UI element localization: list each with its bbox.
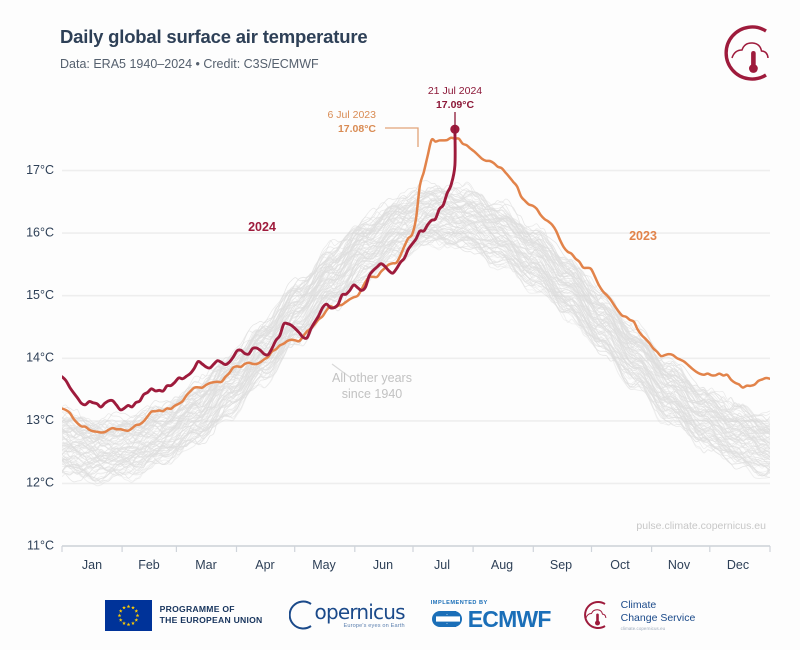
ecmwf-logo-block: IMPLEMENTED BY ECMWF — [431, 600, 551, 631]
copernicus-wordmark: opernicus — [315, 602, 405, 622]
x-axis-labels: Jan Feb Mar Apr May Jun Jul Aug Sep Oct … — [82, 558, 749, 572]
y-tick-label: 16°C — [26, 225, 54, 239]
x-tick-label: Feb — [138, 558, 160, 572]
eu-star-icon — [122, 621, 126, 625]
c3s-text-line2: Change Service — [621, 612, 696, 625]
eu-star-icon — [126, 622, 130, 626]
x-tick-label: Aug — [491, 558, 513, 572]
implemented-by-label: IMPLEMENTED BY — [431, 600, 551, 606]
eu-star-icon — [122, 605, 126, 609]
eu-programme-text: PROGRAMME OF THE EUROPEAN UNION — [160, 604, 263, 626]
c3s-logo-block: Climate Change Service climate.copernicu… — [577, 598, 696, 632]
c3s-text-line1: Climate — [621, 599, 696, 612]
other-years-label-line1: All other years — [332, 371, 412, 385]
ecmwf-wordmark: ECMWF — [468, 608, 551, 631]
copernicus-c-icon — [289, 599, 313, 631]
ecmwf-symbol-icon — [431, 609, 465, 629]
y-tick-label: 15°C — [26, 288, 54, 302]
eu-text-line1: PROGRAMME OF — [160, 604, 263, 615]
annotation-2023-value: 17.08°C — [338, 123, 376, 135]
y-tick-label: 13°C — [26, 413, 54, 427]
eu-logo-block: PROGRAMME OF THE EUROPEAN UNION — [105, 600, 263, 631]
x-axis — [62, 546, 770, 552]
y-tick-label: 12°C — [26, 476, 54, 490]
y-axis-labels: 17°C 16°C 15°C 14°C 13°C 12°C 11°C — [26, 163, 54, 552]
copernicus-logo-block: opernicus Europe's eyes on Earth — [289, 599, 405, 631]
eu-text-line2: THE EUROPEAN UNION — [160, 615, 263, 626]
eu-star-icon — [135, 613, 139, 617]
annotation-2023-date: 6 Jul 2023 — [328, 109, 377, 121]
eu-stars-icon — [105, 600, 152, 631]
eu-flag-icon — [105, 600, 152, 631]
x-tick-label: Nov — [668, 558, 691, 572]
annotation-2024-date: 21 Jul 2024 — [428, 85, 482, 97]
eu-star-icon — [131, 605, 135, 609]
temperature-line-chart: 17°C 16°C 15°C 14°C 13°C 12°C 11°C — [0, 0, 800, 590]
y-tick-label: 17°C — [26, 163, 54, 177]
x-tick-label: May — [312, 558, 336, 572]
watermark-url: pulse.climate.copernicus.eu — [636, 520, 766, 532]
x-tick-label: Jan — [82, 558, 102, 572]
plot-background — [62, 108, 770, 546]
x-tick-label: Oct — [610, 558, 630, 572]
chart-page: Daily global surface air temperature Dat… — [0, 0, 800, 650]
y-tick-label: 14°C — [26, 351, 54, 365]
footer-logos: PROGRAMME OF THE EUROPEAN UNION opernicu… — [0, 586, 800, 644]
c3s-tagline: climate.copernicus.eu — [621, 626, 696, 631]
x-tick-label: Jul — [434, 558, 450, 572]
y-tick-label: 11°C — [27, 538, 54, 552]
x-tick-label: Apr — [255, 558, 274, 572]
chart-area: 17°C 16°C 15°C 14°C 13°C 12°C 11°C — [0, 0, 800, 590]
series-label-2024: 2024 — [248, 220, 276, 234]
x-tick-label: Jun — [373, 558, 393, 572]
x-tick-label: Sep — [550, 558, 572, 572]
eu-star-icon — [126, 604, 130, 608]
eu-star-icon — [134, 618, 138, 622]
eu-star-icon — [118, 618, 122, 622]
eu-star-icon — [131, 621, 135, 625]
eu-star-icon — [118, 609, 122, 613]
series-label-2023: 2023 — [629, 229, 657, 243]
eu-star-icon — [134, 609, 138, 613]
x-tick-label: Mar — [195, 558, 217, 572]
eu-star-icon — [117, 613, 121, 617]
other-years-label-line2: since 1940 — [342, 387, 403, 401]
c3s-badge-icon — [577, 598, 613, 632]
annotation-2024-value: 17.09°C — [436, 99, 474, 111]
x-tick-label: Dec — [727, 558, 749, 572]
